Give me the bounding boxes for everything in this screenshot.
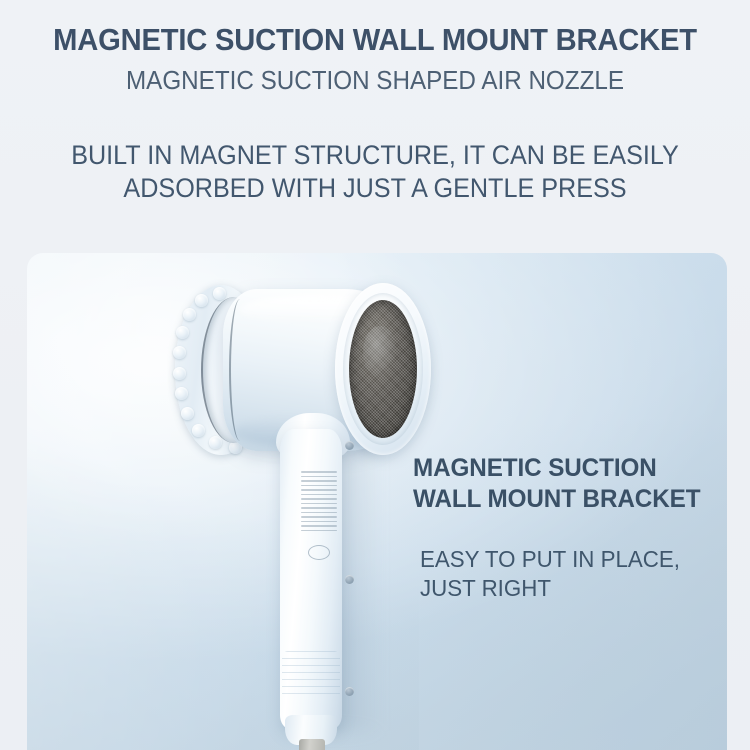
air-nozzle-bezel xyxy=(335,283,431,455)
caption-soft-line-2: JUST RIGHT xyxy=(420,574,704,603)
nozzle-mesh-grille-icon xyxy=(349,300,417,438)
description-line-2: ADSORBED WITH JUST A GENTLE PRESS xyxy=(19,172,732,206)
description-paragraph: BUILT IN MAGNET STRUCTURE, IT CAN BE EAS… xyxy=(0,139,750,207)
mesh-reflection xyxy=(363,326,397,378)
caption-strong-line-1: MAGNETIC SUCTION xyxy=(413,453,704,484)
screw-hole-icon xyxy=(345,575,354,584)
header-text-block: MAGNETIC SUCTION WALL MOUNT BRACKET MAGN… xyxy=(0,0,750,206)
description-line-1: BUILT IN MAGNET STRUCTURE, IT CAN BE EAS… xyxy=(19,139,732,173)
handle-grip-grooves xyxy=(282,651,340,699)
photo-caption-overlay: MAGNETIC SUCTION WALL MOUNT BRACKET EASY… xyxy=(413,453,713,604)
product-photo-panel: MAGNETIC SUCTION WALL MOUNT BRACKET EASY… xyxy=(27,253,727,750)
page-subtitle: MAGNETIC SUCTION SHAPED AIR NOZZLE xyxy=(19,69,732,95)
product-spec-label xyxy=(301,471,337,541)
page-title: MAGNETIC SUCTION WALL MOUNT BRACKET xyxy=(23,24,728,55)
nozzle-inner-ring xyxy=(343,293,423,445)
screw-hole-icon xyxy=(345,687,354,696)
caption-soft-line-1: EASY TO PUT IN PLACE, xyxy=(420,545,704,574)
product-marketing-page: MAGNETIC SUCTION WALL MOUNT BRACKET MAGN… xyxy=(0,0,750,750)
power-cable xyxy=(299,739,325,750)
caption-strong-line-2: WALL MOUNT BRACKET xyxy=(413,484,704,515)
certification-mark-icon xyxy=(308,545,330,560)
screw-hole-icon xyxy=(345,441,354,450)
barrel-seam-line xyxy=(229,299,251,441)
